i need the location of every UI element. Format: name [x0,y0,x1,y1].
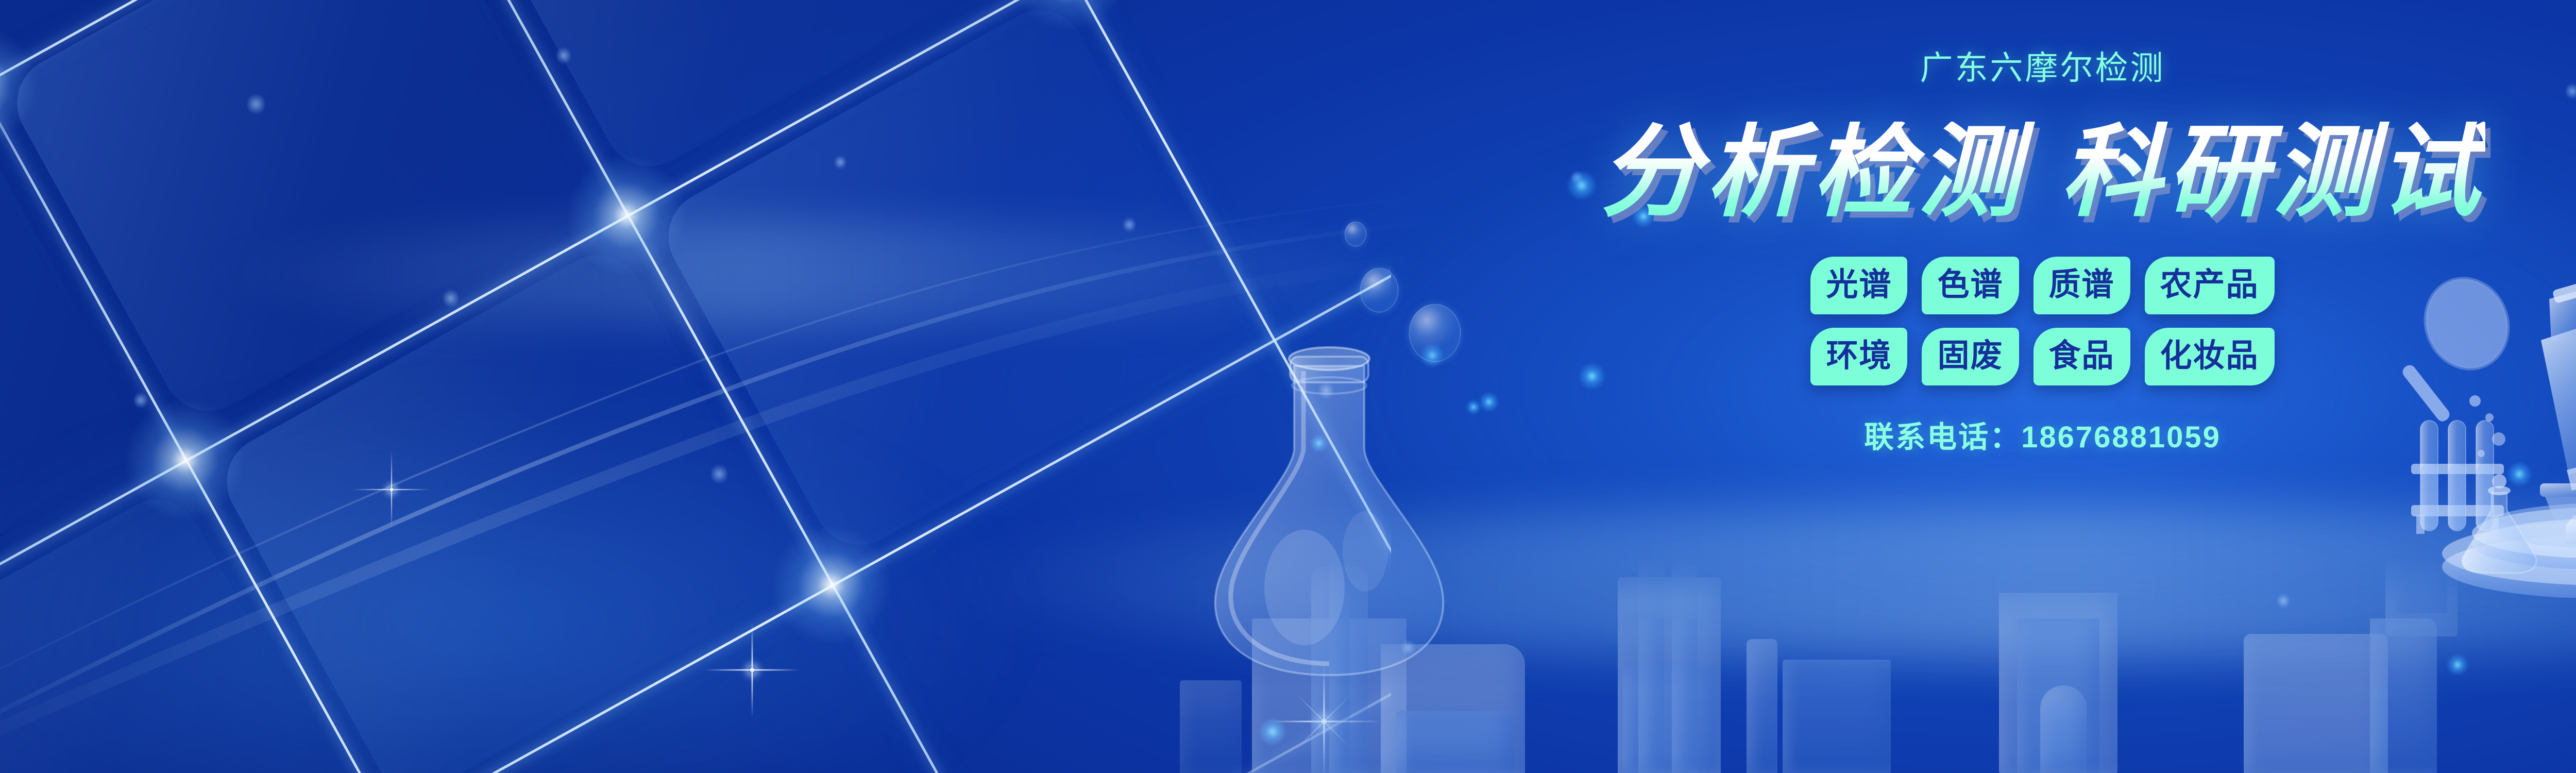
service-tag-mass-spec[interactable]: 质谱 [2033,257,2130,314]
service-tag-chromatography[interactable]: 色谱 [1922,257,2019,314]
company-name: 广东六摩尔检测 [1920,52,2165,85]
headline-part-1: 分析检测 [1600,115,2024,228]
service-tag-list: 光谱 色谱 质谱 农产品 环境 固废 食品 化妆品 [1810,257,2274,385]
service-tag-agriculture[interactable]: 农产品 [2145,257,2275,314]
service-tag-row-2: 环境 固废 食品 化妆品 [1810,328,2274,385]
banner-content: 广东六摩尔检测 分析检测科研测试 光谱 色谱 质谱 农产品 环境 固废 食品 化… [0,0,2576,773]
service-tag-food[interactable]: 食品 [2033,328,2130,385]
headline-part-2: 科研测试 [2061,115,2485,228]
service-tag-cosmetics[interactable]: 化妆品 [2145,328,2275,385]
promo-banner: 广东六摩尔检测 分析检测科研测试 光谱 色谱 质谱 农产品 环境 固废 食品 化… [0,0,2576,773]
service-tag-row-1: 光谱 色谱 质谱 农产品 [1810,257,2274,314]
service-tag-solid-waste[interactable]: 固废 [1922,328,2019,385]
service-tag-spectroscopy[interactable]: 光谱 [1810,257,1907,314]
page-title: 分析检测科研测试 [1600,122,2485,223]
service-tag-environment[interactable]: 环境 [1810,328,1907,385]
contact-phone[interactable]: 联系电话：18676881059 [1864,423,2221,452]
